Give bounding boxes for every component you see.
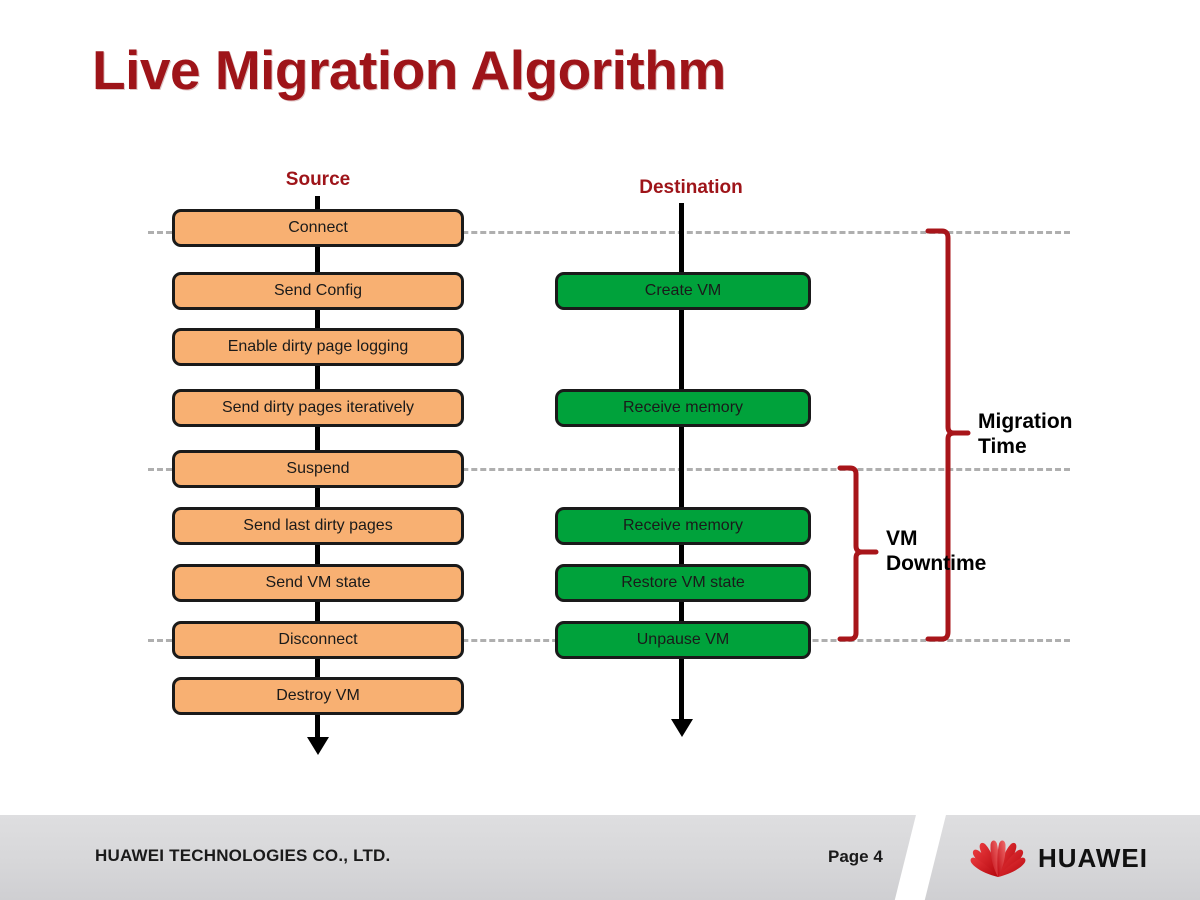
annotation-label-vm-downtime-line1: VM [886, 527, 986, 552]
annotation-label-migration-time-line2: Time [978, 435, 1073, 460]
huawei-flower-logo-icon [970, 837, 1026, 879]
bracket-vm-downtime [840, 468, 876, 639]
footer-divider-slash [891, 815, 949, 900]
page-number: Page 4 [828, 847, 883, 867]
annotation-label-migration-time-line1: Migration [978, 410, 1073, 435]
column-header-source: Source [286, 169, 350, 191]
process-node-disconnect[interactable]: Disconnect [172, 621, 464, 659]
huawei-logo: HUAWEI [970, 837, 1148, 879]
annotation-label-vm-downtime-line2: Downtime [886, 552, 986, 577]
process-node-connect[interactable]: Connect [172, 209, 464, 247]
live-migration-diagram: Source Destination Connect Send Config E… [0, 0, 1200, 815]
process-node-send-vm-state[interactable]: Send VM state [172, 564, 464, 602]
process-node-create-vm[interactable]: Create VM [555, 272, 811, 310]
huawei-wordmark: HUAWEI [1038, 843, 1148, 874]
slide-footer: HUAWEI TECHNOLOGIES CO., LTD. Page 4 [0, 815, 1200, 900]
process-node-send-last-dirty-pages[interactable]: Send last dirty pages [172, 507, 464, 545]
bracket-migration-time [928, 231, 968, 639]
column-header-destination: Destination [639, 177, 742, 199]
process-node-send-config[interactable]: Send Config [172, 272, 464, 310]
process-node-receive-memory-1[interactable]: Receive memory [555, 389, 811, 427]
footer-company-name: HUAWEI TECHNOLOGIES CO., LTD. [95, 846, 390, 866]
process-node-destroy-vm[interactable]: Destroy VM [172, 677, 464, 715]
process-node-restore-vm-state[interactable]: Restore VM state [555, 564, 811, 602]
annotation-label-migration-time: Migration Time [978, 410, 1073, 460]
slide-canvas: Live Migration Algorithm Source Destinat… [0, 0, 1200, 900]
arrowhead-source-icon [307, 737, 329, 755]
process-node-suspend[interactable]: Suspend [172, 450, 464, 488]
process-node-send-dirty-pages-iteratively[interactable]: Send dirty pages iteratively [172, 389, 464, 427]
process-node-receive-memory-2[interactable]: Receive memory [555, 507, 811, 545]
process-node-enable-dirty-page-logging[interactable]: Enable dirty page logging [172, 328, 464, 366]
annotation-label-vm-downtime: VM Downtime [886, 527, 986, 577]
process-node-unpause-vm[interactable]: Unpause VM [555, 621, 811, 659]
arrowhead-destination-icon [671, 719, 693, 737]
